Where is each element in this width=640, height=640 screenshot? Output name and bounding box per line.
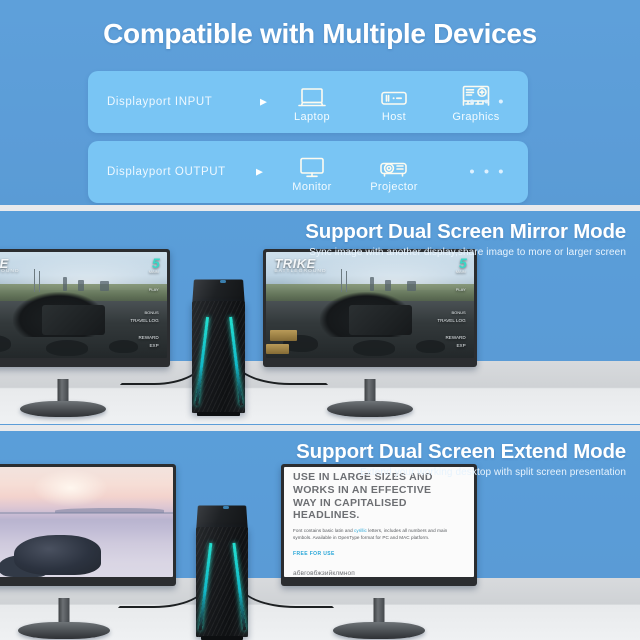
mirror-mode-subheading: Sync image with another display,share im… [305, 247, 626, 258]
mirror-right-monitor: TRIKE BATTLEGROUND 5 MAIN PLAY BONUS TRA… [263, 249, 477, 419]
tower-foot-2 [201, 636, 243, 640]
game-hud-exp-left: EXP [149, 343, 158, 349]
mirror-left-monitor-base [20, 401, 106, 417]
extend-right-monitor-base [333, 622, 425, 639]
document-paragraph: Font contains basic latin and cyrillic l… [293, 528, 465, 542]
tower-foot [197, 412, 239, 416]
compatibility-section: Compatible with Multiple Devices Display… [0, 0, 640, 207]
mirror-mode-section: Support Dual Screen Mirror Mode Sync ima… [0, 211, 640, 424]
host-tower-icon [379, 82, 409, 110]
game-logo-left: TRIKE BATTLEGROUND [0, 257, 20, 275]
game-hud-play-right: PLAY [456, 287, 466, 292]
device-laptop-label: Laptop [294, 111, 330, 123]
mirror-right-monitor-base [327, 401, 413, 417]
extend-mode-heading: Support Dual Screen Extend Mode [296, 440, 626, 464]
device-host[interactable]: Host [362, 82, 426, 123]
game-hud-reward-right: REWARD [445, 335, 465, 341]
document-headline: USE IN LARGE SIZES AND WORKS IN AN EFFEC… [293, 471, 465, 522]
displayport-input-label: Displayport INPUT [107, 96, 212, 108]
game-logo-subtext: BATTLEGROUND [0, 270, 20, 275]
tower-power-button[interactable] [220, 280, 226, 283]
monitor-icon [297, 152, 327, 180]
mirror-right-screen: TRIKE BATTLEGROUND 5 MAIN PLAY BONUS TRA… [266, 252, 474, 358]
sunset-wallpaper [0, 467, 173, 577]
game-hud-main-right: MAIN [456, 269, 466, 274]
game-hud-exp-right: EXP [456, 343, 465, 349]
headline-line-3: WAY IN CAPITALISED [293, 497, 465, 510]
mirror-pc-tower [192, 277, 245, 413]
displayport-output-label: Displayport OUTPUT [107, 166, 226, 178]
headline-line-2: WORKS IN AN EFFECTIVE [293, 484, 465, 497]
free-for-use-badge: FREE FOR USE [293, 551, 335, 557]
mirror-mode-heading-block: Support Dual Screen Mirror Mode Sync ima… [305, 220, 626, 258]
game-hud-reward-left: REWARD [138, 335, 158, 341]
game-hud-bonus-left: BONUS [144, 310, 158, 315]
mirror-mode-heading: Support Dual Screen Mirror Mode [305, 220, 626, 244]
device-projector[interactable]: Projector [362, 152, 426, 193]
game-hud-bonus-right: BONUS [451, 310, 465, 315]
output-device-list: Monitor Projector [280, 141, 426, 203]
device-host-label: Host [382, 111, 406, 123]
tower-power-button-2[interactable] [223, 506, 229, 509]
tower-front-panel [192, 301, 245, 413]
extend-left-screen [0, 467, 173, 577]
tower-front-panel-2 [196, 527, 248, 637]
projector-icon [378, 152, 410, 180]
game-hud-play-left: PLAY [149, 287, 159, 292]
device-projector-label: Projector [370, 181, 418, 193]
device-monitor[interactable]: Monitor [280, 152, 344, 193]
document-cyrillic-block: абвговбжзийклмноп рстуфхчцчшщыьъэюя абвг… [293, 569, 465, 577]
more-devices-input[interactable]: • • • [469, 95, 506, 110]
document-artwork: USE IN LARGE SIZES AND WORKS IN AN EFFEC… [284, 467, 474, 577]
game-artwork-right: TRIKE BATTLEGROUND 5 MAIN PLAY BONUS TRA… [266, 252, 474, 358]
arrow-right-icon-2: ▶ [256, 168, 263, 177]
displayport-output-card: Displayport OUTPUT ▶ Monitor [88, 141, 528, 203]
extend-mode-heading-block: Support Dual Screen Extend Mode Extend y… [296, 440, 626, 478]
cyrillic-line-1: абвговбжзийклмноп [293, 569, 465, 577]
game-hud-travel-right: TRAVEL LOG [437, 318, 465, 324]
tower-rgb-strip-2 [206, 543, 237, 631]
game-hud-main-left: MAIN [149, 269, 159, 274]
paragraph-cyrillic-link[interactable]: cyrillic [354, 528, 367, 533]
extend-left-monitor [0, 464, 176, 639]
page-title: Compatible with Multiple Devices [0, 18, 640, 50]
tower-rgb-strip [203, 317, 235, 406]
game-logo-subtext-right: BATTLEGROUND [274, 270, 326, 275]
extend-mode-subheading: Extend your working desktop with split s… [296, 467, 626, 478]
headline-line-4: HEADLINES. [293, 509, 465, 522]
game-logo-right: TRIKE BATTLEGROUND [274, 257, 326, 275]
paragraph-part-1: Font contains basic latin and [293, 528, 354, 533]
extend-pc-tower [196, 503, 248, 637]
more-devices-output[interactable]: • • • [469, 165, 506, 180]
device-laptop[interactable]: Laptop [280, 82, 344, 123]
game-artwork-left: TRIKE BATTLEGROUND 5 MAIN PLAY BONUS TRA… [0, 252, 167, 358]
extend-left-monitor-base [18, 622, 110, 639]
laptop-icon [297, 82, 327, 110]
mirror-left-monitor: TRIKE BATTLEGROUND 5 MAIN PLAY BONUS TRA… [0, 249, 170, 419]
extend-mode-section: Support Dual Screen Extend Mode Extend y… [0, 431, 640, 640]
game-hud-travel-left: TRAVEL LOG [130, 318, 158, 324]
device-monitor-label: Monitor [292, 181, 331, 193]
extend-right-monitor: USE IN LARGE SIZES AND WORKS IN AN EFFEC… [281, 464, 477, 639]
displayport-input-card: Displayport INPUT ▶ Laptop [88, 71, 528, 133]
mirror-left-screen: TRIKE BATTLEGROUND 5 MAIN PLAY BONUS TRA… [0, 252, 167, 358]
arrow-right-icon: ▶ [260, 98, 267, 107]
extend-right-screen: USE IN LARGE SIZES AND WORKS IN AN EFFEC… [284, 467, 474, 577]
device-graphics-label: Graphics [452, 111, 499, 123]
product-infographic-page: Compatible with Multiple Devices Display… [0, 0, 640, 640]
